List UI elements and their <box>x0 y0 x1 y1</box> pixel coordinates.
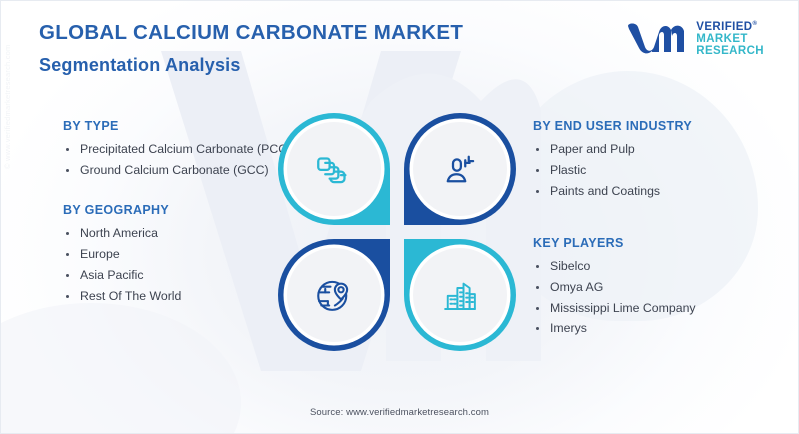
list-item: Omya AG <box>533 278 768 298</box>
logo-line-research: RESEARCH <box>696 45 764 57</box>
header: GLOBAL CALCIUM CARBONATE MARKET Segmenta… <box>1 1 798 93</box>
section-heading-by-type: BY TYPE <box>63 119 298 133</box>
icon-disc <box>287 248 381 342</box>
user-industry-icon <box>439 148 481 190</box>
list-item: Rest Of The World <box>63 287 298 307</box>
icon-disc <box>413 248 507 342</box>
ring-teal-bottom-right <box>404 239 516 351</box>
stacked-layers-icon <box>313 148 355 190</box>
infographic-canvas: © www.verifiedmarketresearch.com GLOBAL … <box>0 0 799 434</box>
logo-line-market: MARKET <box>696 33 764 45</box>
list-item: Ground Calcium Carbonate (GCC) <box>63 161 298 181</box>
registered-mark: ® <box>753 21 758 27</box>
ring-teal-top-left <box>278 113 390 225</box>
vmr-wave-logo-icon <box>626 21 688 55</box>
list-item: North America <box>63 224 298 244</box>
list-item: Paints and Coatings <box>533 182 768 202</box>
globe-location-pin-icon <box>313 274 355 316</box>
section-heading-by-end-user-industry: BY END USER INDUSTRY <box>533 119 768 133</box>
verified-market-research-logo[interactable]: VERIFIED® MARKET RESEARCH <box>626 19 764 58</box>
section-by-end-user-industry: BY END USER INDUSTRY Paper and Pulp Plas… <box>533 119 768 202</box>
list-item: Sibelco <box>533 257 768 277</box>
list-by-type: Precipitated Calcium Carbonate (PCC) Gro… <box>63 140 298 181</box>
section-heading-key-players: KEY PLAYERS <box>533 236 768 250</box>
section-by-type: BY TYPE Precipitated Calcium Carbonate (… <box>63 119 298 181</box>
page-title: GLOBAL CALCIUM CARBONATE MARKET <box>39 21 463 46</box>
ring-blue-top-right <box>404 113 516 225</box>
list-item: Asia Pacific <box>63 266 298 286</box>
section-heading-by-geography: BY GEOGRAPHY <box>63 203 298 217</box>
page-subtitle: Segmentation Analysis <box>39 55 463 76</box>
icon-badge-by-end-user-industry[interactable] <box>404 113 516 225</box>
ring-blue-bottom-left <box>278 239 390 351</box>
logo-wordmark: VERIFIED® MARKET RESEARCH <box>696 19 764 58</box>
icon-badge-by-type[interactable] <box>278 113 390 225</box>
right-column: BY END USER INDUSTRY Paper and Pulp Plas… <box>533 119 768 340</box>
title-block: GLOBAL CALCIUM CARBONATE MARKET Segmenta… <box>39 21 463 76</box>
section-key-players: KEY PLAYERS Sibelco Omya AG Mississippi … <box>533 236 768 340</box>
list-item: Precipitated Calcium Carbonate (PCC) <box>63 140 298 160</box>
center-icon-pinwheel <box>278 113 516 351</box>
list-item: Mississippi Lime Company <box>533 299 768 319</box>
city-buildings-icon <box>439 274 481 316</box>
list-item: Europe <box>63 245 298 265</box>
logo-line-verified: VERIFIED® <box>696 21 764 33</box>
list-item: Paper and Pulp <box>533 140 768 160</box>
list-key-players: Sibelco Omya AG Mississippi Lime Company… <box>533 257 768 340</box>
icon-badge-key-players[interactable] <box>404 239 516 351</box>
list-by-end-user-industry: Paper and Pulp Plastic Paints and Coatin… <box>533 140 768 202</box>
list-item: Imerys <box>533 319 768 339</box>
icon-disc <box>287 122 381 216</box>
list-item: Plastic <box>533 161 768 181</box>
list-by-geography: North America Europe Asia Pacific Rest O… <box>63 224 298 307</box>
section-by-geography: BY GEOGRAPHY North America Europe Asia P… <box>63 203 298 307</box>
icon-disc <box>413 122 507 216</box>
icon-badge-by-geography[interactable] <box>278 239 390 351</box>
source-note: Source: www.verifiedmarketresearch.com <box>1 407 798 418</box>
left-column: BY TYPE Precipitated Calcium Carbonate (… <box>63 119 298 307</box>
